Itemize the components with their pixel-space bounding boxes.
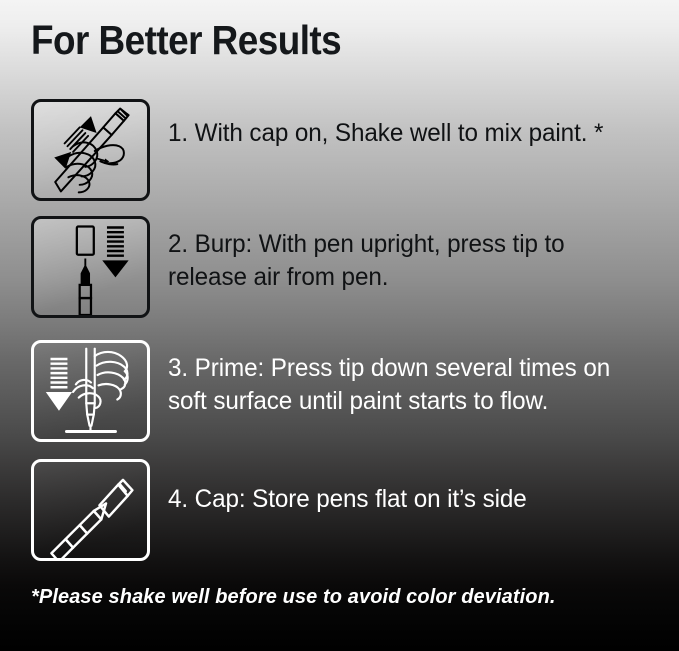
instruction-panel: For Better Results bbox=[0, 0, 679, 651]
step-text-2: 2. Burp: With pen upright, press tip to … bbox=[168, 216, 645, 294]
step-text-1: 1. With cap on, Shake well to mix paint.… bbox=[168, 99, 603, 150]
burp-pen-upright-icon bbox=[31, 216, 150, 318]
step-row-3: 3. Prime: Press tip down several times o… bbox=[0, 340, 679, 442]
step-row-1: 1. With cap on, Shake well to mix paint.… bbox=[0, 99, 679, 201]
step-row-2: 2. Burp: With pen upright, press tip to … bbox=[0, 216, 679, 318]
prime-press-tip-icon bbox=[31, 340, 150, 442]
cap-store-flat-icon bbox=[31, 459, 150, 561]
step-text-4: 4. Cap: Store pens flat on it’s side bbox=[168, 459, 527, 516]
step-text-3: 3. Prime: Press tip down several times o… bbox=[168, 340, 645, 418]
page-title: For Better Results bbox=[31, 16, 341, 64]
footnote-text: *Please shake well before use to avoid c… bbox=[31, 584, 556, 610]
step-row-4: 4. Cap: Store pens flat on it’s side bbox=[0, 459, 679, 561]
shake-pen-icon bbox=[31, 99, 150, 201]
